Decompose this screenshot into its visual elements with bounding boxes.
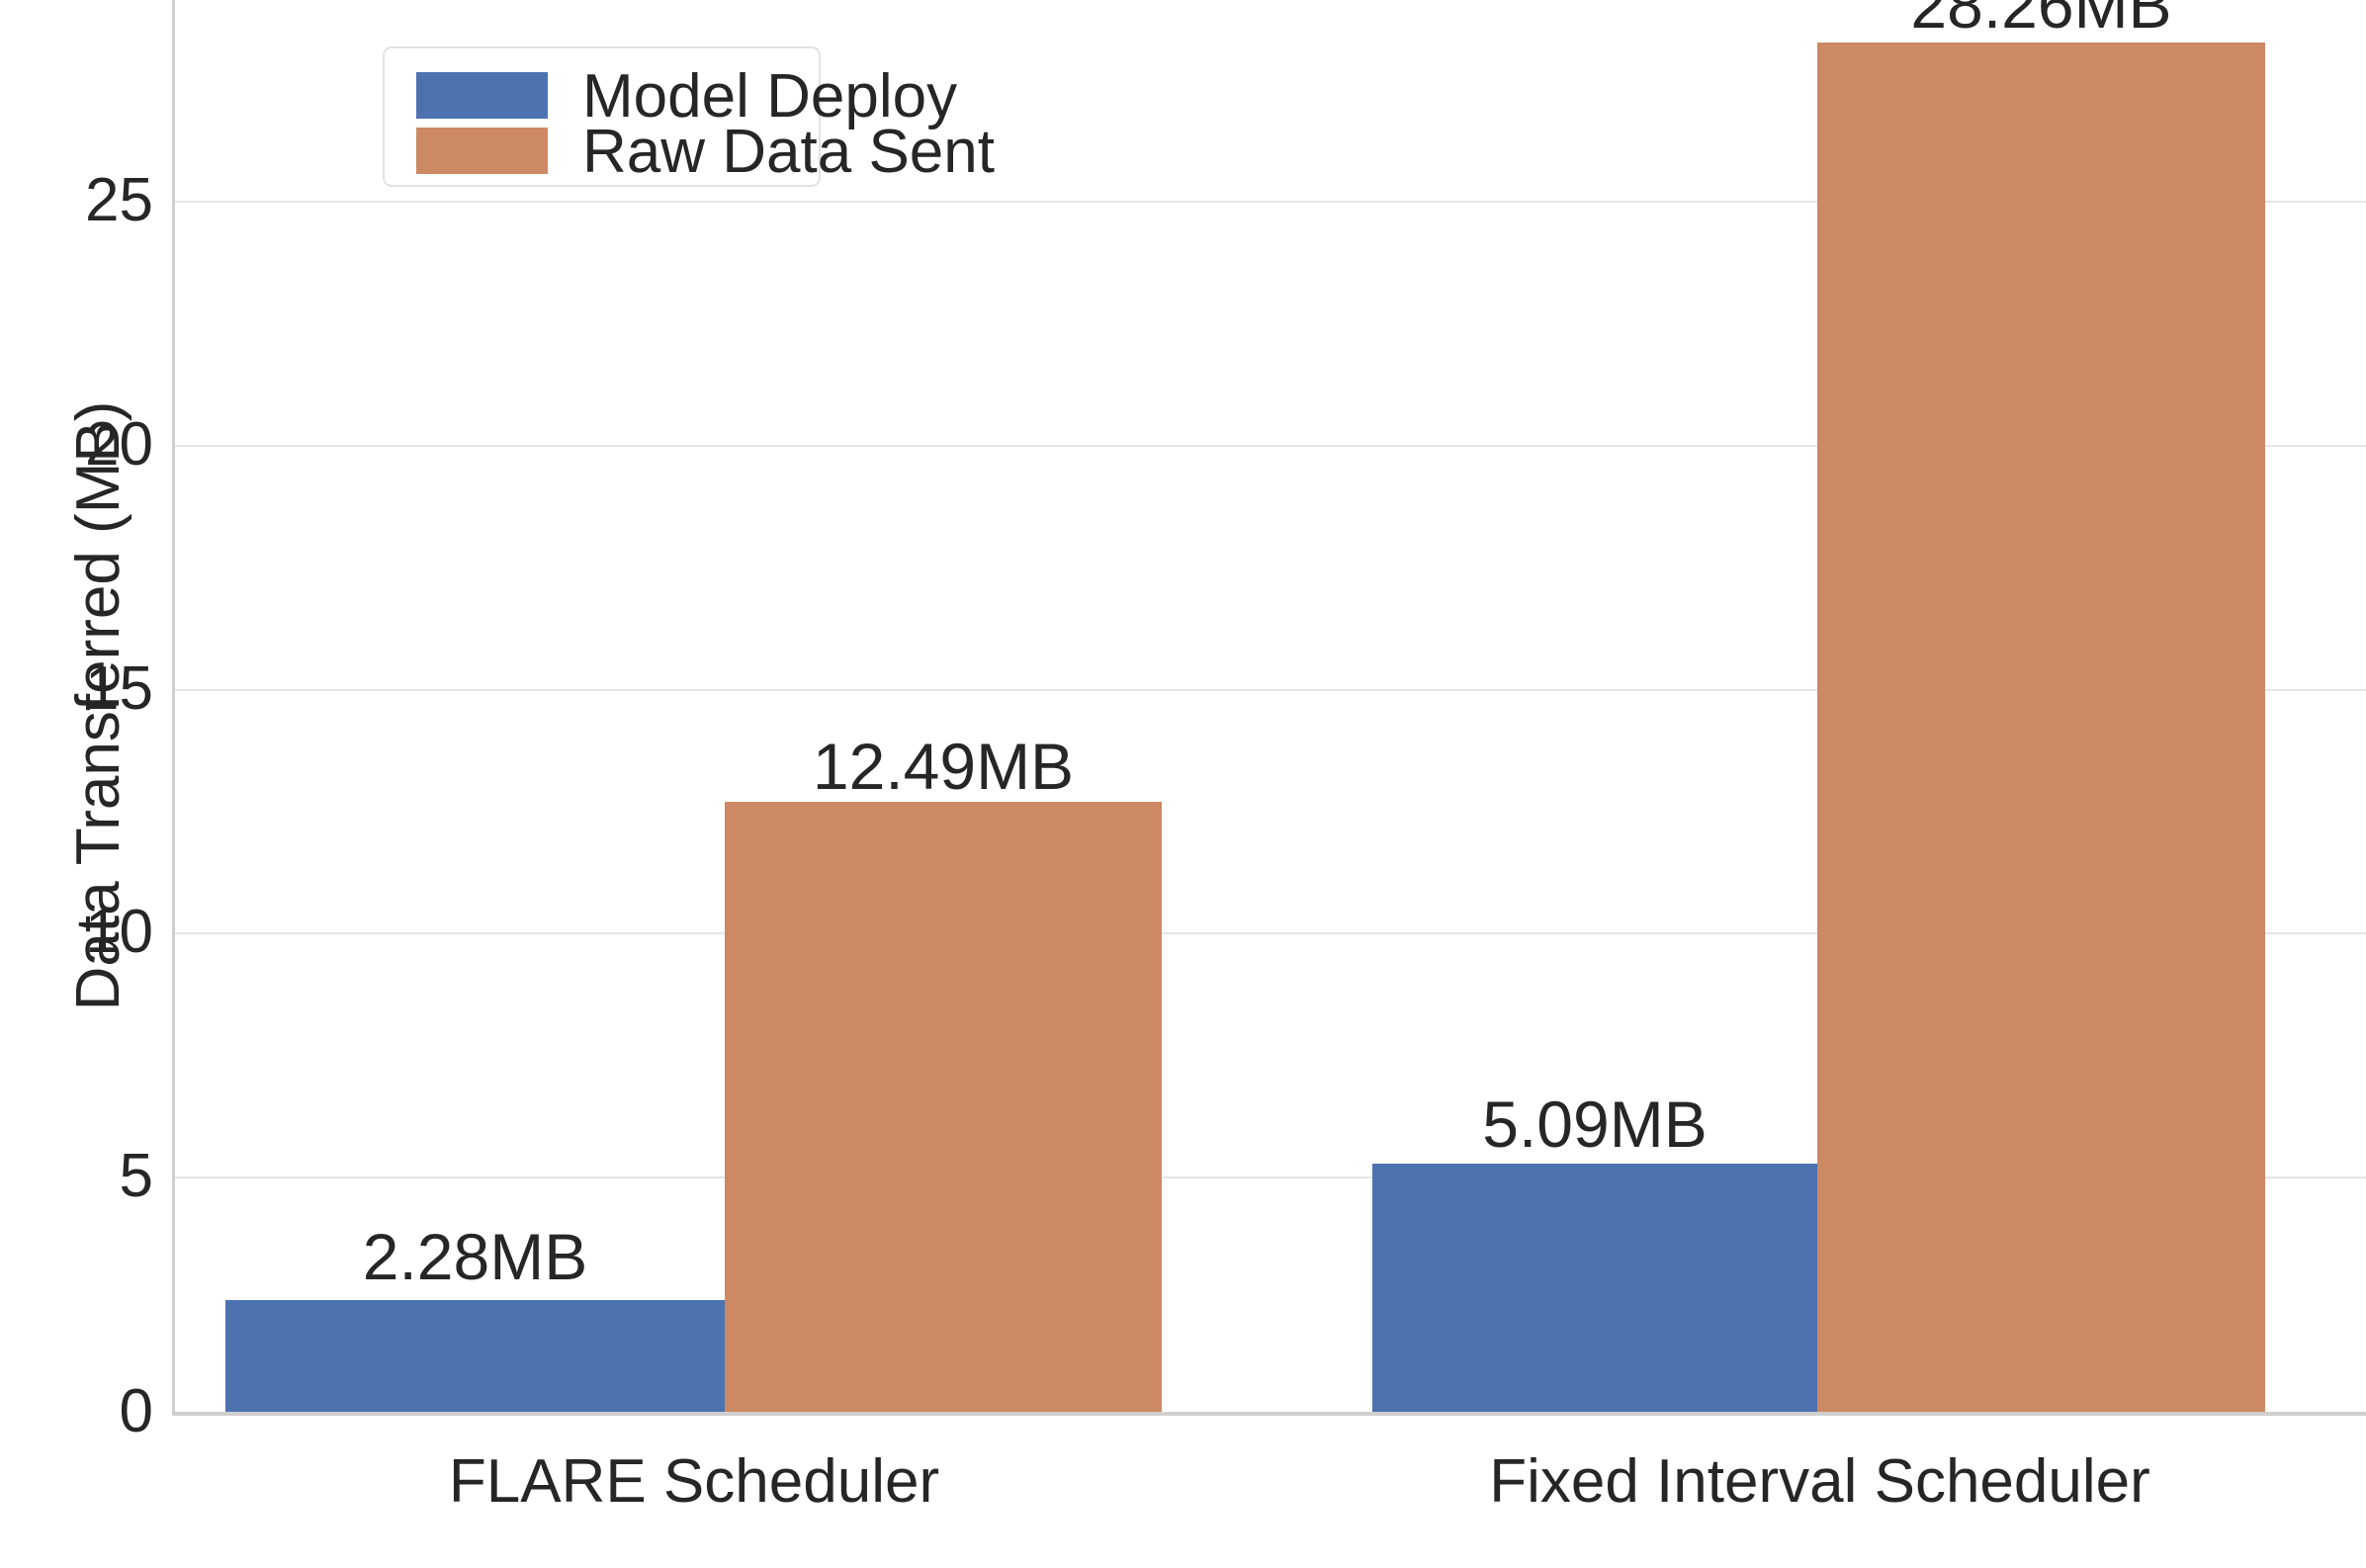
legend-swatch-model-deploy [416,72,548,119]
bar-flare-model-deploy[interactable] [225,1300,725,1412]
bar-flare-raw-data-sent[interactable] [725,802,1162,1412]
y-axis-title: Data Transferred (MB) [68,310,130,1101]
bar-chart-figure: 2.28MB 12.49MB 5.09MB 28.26MB Model Depl… [0,0,2366,1568]
plot-area: 2.28MB 12.49MB 5.09MB 28.26MB Model Depl… [172,0,2366,1412]
legend: Model Deploy Raw Data Sent [383,46,821,187]
bar-fixed-model-deploy[interactable] [1372,1164,1817,1412]
y-axis-title-holder: Data Transferred (MB) [0,0,79,1412]
bar-value-label-fixed-raw-data-sent: 28.26MB [1797,0,2285,38]
legend-entry-raw-data-sent[interactable]: Raw Data Sent [385,124,819,177]
axis-spine-left [172,0,175,1413]
xtick-label-fixed-interval-scheduler: Fixed Interval Scheduler [1372,1451,2267,1513]
legend-label-raw-data-sent: Raw Data Sent [582,122,995,183]
bar-value-label-flare-raw-data-sent: 12.49MB [695,734,1191,799]
bar-value-label-fixed-model-deploy: 5.09MB [1372,1091,1817,1157]
legend-entry-model-deploy[interactable]: Model Deploy [385,68,819,122]
bar-value-label-flare-model-deploy: 2.28MB [225,1224,725,1289]
legend-swatch-raw-data-sent [416,128,548,174]
xtick-label-flare-scheduler: FLARE Scheduler [225,1451,1163,1513]
bar-fixed-raw-data-sent[interactable] [1817,43,2265,1412]
axis-spine-bottom [172,1412,2366,1416]
